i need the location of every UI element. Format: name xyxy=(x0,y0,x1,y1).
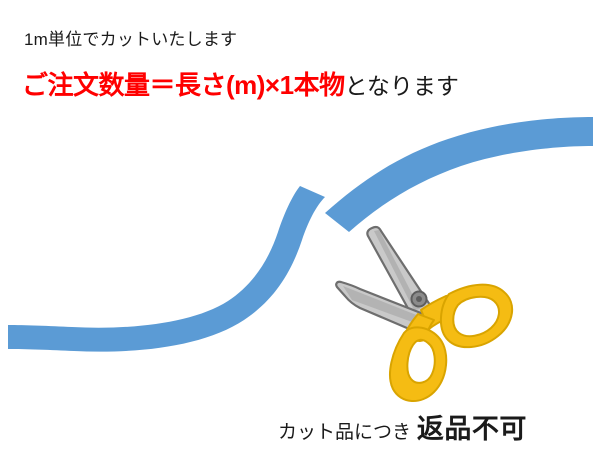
headline-tail-text: となります xyxy=(345,73,459,99)
footnote-lead-text: カット品につき xyxy=(278,422,411,443)
footnote: カット品につき 返品不可 xyxy=(278,414,527,448)
scissors-icon xyxy=(336,227,512,401)
scissors-handle-right-loop xyxy=(441,285,512,347)
headline-emphasis-text: ご注文数量＝長さ(m)×1本物 xyxy=(22,70,345,100)
scissors-pivot-center xyxy=(416,296,422,302)
headline-line-1: 1m単位でカットいたします xyxy=(24,29,237,51)
scissors-handle-left-loop xyxy=(390,327,446,401)
infographic-canvas: 1m単位でカットいたします ご注文数量＝長さ(m)×1本物となります カット品に… xyxy=(0,0,600,466)
headline-line-2: ご注文数量＝長さ(m)×1本物となります xyxy=(22,68,459,103)
footnote-strong-text: 返品不可 xyxy=(417,414,527,444)
